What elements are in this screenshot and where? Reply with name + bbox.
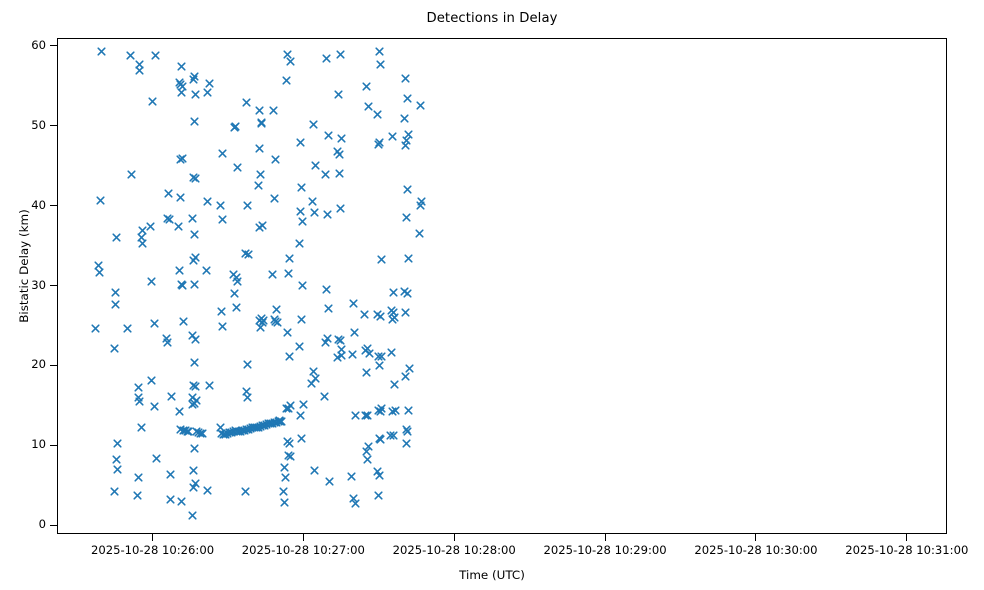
scatter-point [166, 495, 175, 504]
scatter-point [174, 222, 183, 231]
scatter-point [282, 76, 291, 85]
scatter-point [347, 472, 356, 481]
scatter-point [299, 400, 308, 409]
scatter-point [297, 183, 306, 192]
scatter-point [374, 491, 383, 500]
scatter-point [364, 102, 373, 111]
scatter-point [402, 439, 411, 448]
scatter-point [401, 141, 410, 150]
scatter-point [403, 289, 412, 298]
scatter-point [375, 471, 384, 480]
x-tick-label: 2025-10-28 10:30:00 [694, 543, 817, 557]
scatter-point [255, 144, 264, 153]
scatter-point [127, 170, 136, 179]
scatter-point [348, 350, 357, 359]
x-tick-mark [906, 534, 907, 541]
x-tick-mark [303, 534, 304, 541]
scatter-point [403, 185, 412, 194]
scatter-point [323, 334, 332, 343]
scatter-point [335, 150, 344, 159]
scatter-point [179, 317, 188, 326]
scatter-point [351, 499, 360, 508]
scatter-point [134, 473, 143, 482]
scatter-point [189, 466, 198, 475]
scatter-point [188, 511, 197, 520]
scatter-point [254, 181, 263, 190]
y-tick-label: 10 [0, 437, 46, 451]
scatter-point [388, 132, 397, 141]
scatter-point [259, 316, 268, 325]
scatter-point [138, 239, 147, 248]
scatter-point [295, 239, 304, 248]
scatter-point [285, 439, 294, 448]
scatter-point [243, 360, 252, 369]
scatter-point [307, 379, 316, 388]
scatter-point [111, 300, 120, 309]
scatter-point [323, 210, 332, 219]
scatter-point [113, 439, 122, 448]
scatter-point [135, 66, 144, 75]
scatter-point [389, 288, 398, 297]
scatter-point [242, 387, 251, 396]
scatter-point [337, 351, 346, 360]
scatter-point [279, 487, 288, 496]
scatter-point [203, 197, 212, 206]
scatter-point [388, 315, 397, 324]
scatter-point [283, 328, 292, 337]
scatter-point [175, 266, 184, 275]
scatter-point [298, 217, 307, 226]
x-tick-mark [454, 534, 455, 541]
scatter-plot-area [58, 39, 946, 533]
scatter-point [244, 250, 253, 259]
scatter-point [189, 256, 198, 265]
scatter-point [233, 163, 242, 172]
scatter-point [310, 466, 319, 475]
scatter-point [203, 88, 212, 97]
scatter-point [403, 427, 412, 436]
y-tick-label: 0 [0, 517, 46, 531]
scatter-point [322, 285, 331, 294]
scatter-point [147, 376, 156, 385]
x-tick-label: 2025-10-28 10:27:00 [242, 543, 365, 557]
scatter-point [376, 312, 385, 321]
scatter-point [363, 455, 372, 464]
scatter-point [416, 101, 425, 110]
scatter-point [375, 361, 384, 370]
scatter-point [163, 338, 172, 347]
scatter-point [218, 149, 227, 158]
scatter-point [387, 348, 396, 357]
scatter-point [375, 47, 384, 56]
scatter-point [285, 352, 294, 361]
x-tick-mark [152, 534, 153, 541]
scatter-point [190, 280, 199, 289]
scatter-point [205, 381, 214, 390]
scatter-point [337, 134, 346, 143]
scatter-point [192, 396, 201, 405]
scatter-point [202, 266, 211, 275]
scatter-point [190, 117, 199, 126]
scatter-point [148, 97, 157, 106]
scatter-point [286, 401, 295, 410]
scatter-point [365, 349, 374, 358]
y-tick-mark [50, 205, 57, 206]
scatter-point [325, 477, 334, 486]
y-tick-label: 60 [0, 38, 46, 52]
y-axis-label: Bistatic Delay (km) [17, 146, 31, 386]
scatter-point [390, 380, 399, 389]
scatter-point [255, 223, 264, 232]
scatter-point [167, 392, 176, 401]
scatter-point [110, 344, 119, 353]
scatter-point [400, 114, 409, 123]
scatter-point [147, 277, 156, 286]
scatter-point [376, 60, 385, 69]
scatter-point [134, 383, 143, 392]
scatter-point [351, 411, 360, 420]
scatter-point [362, 368, 371, 377]
scatter-point [175, 407, 184, 416]
scatter-point [277, 417, 286, 426]
scatter-point [401, 74, 410, 83]
scatter-point [230, 289, 239, 298]
scatter-point [151, 51, 160, 60]
scatter-point [362, 82, 371, 91]
scatter-point [198, 429, 207, 438]
scatter-point [297, 434, 306, 443]
scatter-point [190, 230, 199, 239]
scatter-point [401, 308, 410, 317]
scatter-point [146, 222, 155, 231]
scatter-point [268, 270, 277, 279]
scatter-point [176, 193, 185, 202]
scatter-point [164, 189, 173, 198]
y-tick-label: 50 [0, 118, 46, 132]
scatter-point [322, 54, 331, 63]
scatter-point [133, 491, 142, 500]
scatter-point [232, 303, 241, 312]
scatter-point [376, 435, 385, 444]
scatter-point [272, 305, 281, 314]
scatter-point [110, 487, 119, 496]
scatter-point [285, 254, 294, 263]
scatter-point [135, 397, 144, 406]
scatter-point [298, 281, 307, 290]
scatter-point [152, 454, 161, 463]
scatter-point [360, 310, 369, 319]
scatter-point [189, 75, 198, 84]
scatter-point [415, 229, 424, 238]
scatter-point [280, 463, 289, 472]
matplotlib-figure: Detections in Delay 0102030405060 2025-1… [0, 0, 984, 590]
scatter-point [112, 455, 121, 464]
scatter-point [191, 382, 200, 391]
scatter-point [241, 487, 250, 496]
scatter-point [191, 335, 200, 344]
scatter-point [403, 94, 412, 103]
scatter-point [188, 214, 197, 223]
scatter-point [137, 423, 146, 432]
scatter-point [349, 299, 358, 308]
scatter-point [404, 254, 413, 263]
scatter-point [273, 318, 282, 327]
scatter-point [257, 118, 266, 127]
scatter-point [296, 207, 305, 216]
scatter-point [177, 497, 186, 506]
scatter-point [286, 452, 295, 461]
x-tick-label: 2025-10-28 10:28:00 [393, 543, 516, 557]
scatter-point [376, 407, 385, 416]
scatter-point [296, 411, 305, 420]
scatter-point [95, 268, 104, 277]
scatter-point [416, 201, 425, 210]
scatter-point [295, 342, 304, 351]
scatter-point [271, 155, 280, 164]
scatter-point [231, 426, 240, 435]
x-tick-mark [605, 534, 606, 541]
x-tick-label: 2025-10-28 10:29:00 [544, 543, 667, 557]
scatter-point [218, 322, 227, 331]
scatter-point [321, 170, 330, 179]
scatter-point [324, 131, 333, 140]
scatter-point [336, 336, 345, 345]
scatter-point [165, 215, 174, 224]
scatter-point [255, 106, 264, 115]
scatter-point [336, 204, 345, 213]
scatter-point [320, 392, 329, 401]
scatter-point [178, 154, 187, 163]
scatter-point [191, 90, 200, 99]
y-tick-mark [50, 45, 57, 46]
y-tick-mark [50, 445, 57, 446]
scatter-point [297, 315, 306, 324]
scatter-point [373, 110, 382, 119]
scatter-point [281, 473, 290, 482]
scatter-point [203, 486, 212, 495]
scatter-point [150, 402, 159, 411]
scatter-point [150, 319, 159, 328]
scatter-point [377, 352, 386, 361]
scatter-point [269, 106, 278, 115]
scatter-point [231, 122, 240, 131]
scatter-point [308, 197, 317, 206]
scatter-point [177, 62, 186, 71]
plot-axes [57, 38, 947, 534]
scatter-point [166, 470, 175, 479]
chart-title: Detections in Delay [0, 11, 984, 26]
x-tick-mark [755, 534, 756, 541]
scatter-point [112, 233, 121, 242]
scatter-point [374, 140, 383, 149]
scatter-point [270, 194, 279, 203]
scatter-point [256, 170, 265, 179]
scatter-point [284, 269, 293, 278]
scatter-point [113, 465, 122, 474]
scatter-point [336, 50, 345, 59]
y-tick-mark [50, 365, 57, 366]
scatter-point [191, 174, 200, 183]
scatter-point [401, 372, 410, 381]
scatter-point [91, 324, 100, 333]
scatter-point [242, 98, 251, 107]
scatter-point [123, 324, 132, 333]
scatter-point [190, 358, 199, 367]
scatter-point [217, 307, 226, 316]
y-tick-mark [50, 285, 57, 286]
y-tick-mark [50, 125, 57, 126]
scatter-point [361, 411, 370, 420]
scatter-point [309, 120, 318, 129]
scatter-point [189, 483, 198, 492]
scatter-point [335, 169, 344, 178]
scatter-point [389, 431, 398, 440]
scatter-point [310, 208, 319, 217]
scatter-point [324, 304, 333, 313]
scatter-point [377, 255, 386, 264]
x-axis-label: Time (UTC) [0, 568, 984, 582]
x-tick-label: 2025-10-28 10:26:00 [91, 543, 214, 557]
scatter-point [296, 138, 305, 147]
scatter-point [96, 196, 105, 205]
scatter-point [311, 161, 320, 170]
scatter-point [402, 213, 411, 222]
scatter-point [177, 88, 186, 97]
scatter-point [243, 201, 252, 210]
scatter-point [350, 328, 359, 337]
scatter-point [205, 79, 214, 88]
scatter-point [334, 90, 343, 99]
scatter-point [216, 201, 225, 210]
scatter-point [280, 498, 289, 507]
scatter-point [177, 280, 186, 289]
scatter-point [218, 215, 227, 224]
scatter-point [111, 288, 120, 297]
scatter-point [233, 277, 242, 286]
scatter-point [404, 406, 413, 415]
scatter-point [190, 444, 199, 453]
scatter-point [126, 51, 135, 60]
y-tick-mark [50, 525, 57, 526]
scatter-point [388, 407, 397, 416]
scatter-point [286, 57, 295, 66]
x-tick-label: 2025-10-28 10:31:00 [845, 543, 968, 557]
scatter-point [97, 47, 106, 56]
